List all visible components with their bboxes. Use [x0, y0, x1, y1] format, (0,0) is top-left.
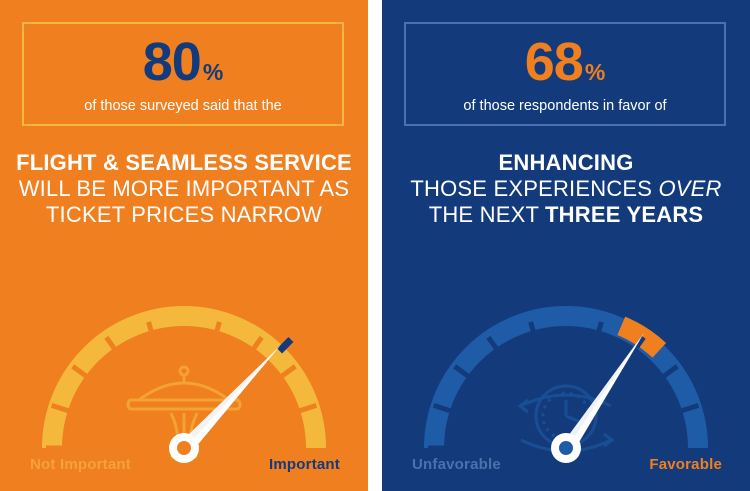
gauge-left: Not Important Important — [0, 261, 368, 491]
panel-flight-seamless-service: 80 % of those surveyed said that the FLI… — [0, 0, 368, 491]
gauge-left-svg — [34, 288, 334, 463]
headline-right: ENHANCING THOSE EXPERIENCES OVER THE NEX… — [382, 150, 750, 228]
headline-left: FLIGHT & SEAMLESS SERVICE WILL BE MORE I… — [0, 150, 368, 228]
gauge-right-svg — [416, 288, 716, 463]
headline-left-line1: FLIGHT & SEAMLESS SERVICE — [0, 150, 368, 176]
gauge-left-max-label: Important — [269, 456, 340, 473]
stat-box-right: 68 % of those respondents in favor of — [404, 22, 726, 126]
gauge-right-arc — [434, 316, 698, 448]
gauge-left-value-tick — [280, 340, 291, 352]
gauge-right-min-label: Unfavorable — [412, 456, 501, 473]
stat-number-row-left: 80 % — [143, 35, 224, 89]
headline-left-line2: WILL BE MORE IMPORTANT AS — [0, 176, 368, 202]
headline-left-line3: TICKET PRICES NARROW — [0, 202, 368, 228]
headline-right-line3: THE NEXT THREE YEARS — [382, 202, 750, 228]
gauge-right-needle — [551, 333, 644, 463]
headline-right-line2-b: OVER — [658, 176, 721, 201]
stat-number-left: 80 — [143, 35, 201, 89]
headline-right-line2-a: THOSE EXPERIENCES — [410, 176, 658, 201]
headline-right-line1: ENHANCING — [382, 150, 750, 176]
stat-percent-left: % — [203, 61, 223, 84]
panel-divider — [368, 0, 382, 491]
gauge-left-needle — [169, 346, 280, 463]
headline-right-line3-a: THE NEXT — [429, 202, 545, 227]
gauge-right: Unfavorable Favorable — [382, 261, 750, 491]
gauge-left-min-label: Not Important — [30, 456, 131, 473]
stat-number-right: 68 — [525, 35, 583, 89]
panel-enhancing-experiences: 68 % of those respondents in favor of EN… — [382, 0, 750, 491]
stat-caption-left: of those surveyed said that the — [84, 98, 282, 114]
stat-box-left: 80 % of those surveyed said that the — [22, 22, 344, 126]
stat-caption-right: of those respondents in favor of — [463, 98, 666, 114]
headline-right-line3-b: THREE YEARS — [545, 202, 703, 227]
stat-percent-right: % — [585, 61, 605, 84]
infographic-root: 80 % of those surveyed said that the FLI… — [0, 0, 750, 491]
headline-right-line2: THOSE EXPERIENCES OVER — [382, 176, 750, 202]
gauge-right-max-label: Favorable — [649, 456, 722, 473]
stat-number-row-right: 68 % — [525, 35, 606, 89]
